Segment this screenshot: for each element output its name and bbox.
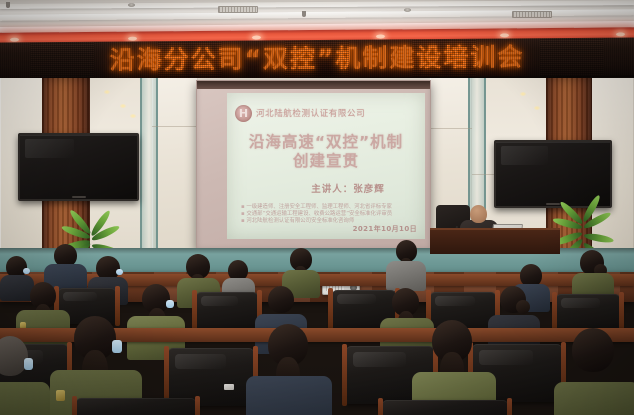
slide-title: 沿海高速“双控”机制 创建宣贯: [227, 133, 425, 171]
cove-lamp-icon: [128, 37, 137, 41]
screen-glare: [25, 139, 74, 158]
wall-display-left[interactable]: [18, 133, 139, 201]
person-torso: [554, 382, 634, 415]
sprinkler-icon: [6, 2, 10, 8]
slide-company-name: 河北陆航检测认证有限公司: [256, 107, 365, 119]
projection-screen: 河北陆航检测认证有限公司 沿海高速“双控”机制 创建宣贯 主讲人：张彦辉 一级建…: [196, 80, 431, 250]
led-banner-text: 沿海分公司“双控”机制建设培训会: [110, 44, 525, 74]
audience-area: [0, 240, 634, 415]
cove-lamp-icon: [376, 34, 385, 38]
seat[interactable]: [196, 292, 258, 330]
seat-sheen: [479, 350, 533, 365]
uniform-shoulder-patch: [56, 390, 65, 401]
face-mask: [112, 340, 122, 353]
company-logo-icon: [235, 105, 252, 122]
wall-seam: [430, 128, 472, 129]
person-head: [268, 286, 294, 313]
screen-glare: [501, 146, 549, 165]
seat[interactable]: [382, 400, 508, 415]
cove-lamp-icon: [252, 35, 261, 39]
slide-header: 河北陆航检测认证有限公司: [235, 102, 417, 124]
face-mask: [23, 268, 30, 274]
seat-sheen: [337, 294, 375, 304]
sprinkler-icon: [302, 11, 306, 17]
person-torso: [246, 376, 332, 415]
person-head: [572, 328, 614, 372]
cove-lamp-icon: [500, 33, 509, 37]
spotlight-icon: [104, 90, 110, 94]
slide-title-line2: 创建宣贯: [227, 152, 425, 171]
seat[interactable]: [556, 294, 620, 332]
cove-lamp-icon: [616, 32, 625, 36]
seat-sheen: [175, 354, 227, 369]
wall-seam: [152, 126, 198, 127]
seat-sheen: [561, 298, 599, 308]
presentation-slide: 河北陆航检测认证有限公司 沿海高速“双控”机制 创建宣贯 主讲人：张彦辉 一级建…: [227, 93, 425, 239]
tv-brand-mark: [72, 196, 86, 198]
person-torso: [0, 275, 34, 301]
conference-photo: 沿海分公司“双控”机制建设培训会 河北陆航检测认证有限公司: [0, 0, 634, 415]
cove-lamp-icon: [10, 38, 19, 42]
ceiling-dome-light-icon: [404, 8, 411, 12]
slide-presenter: 主讲人：张彦辉: [227, 181, 425, 195]
slide-title-line1: 沿海高速“双控”机制: [227, 133, 425, 152]
face-mask: [24, 358, 33, 370]
slide-date: 2021年10月10日: [353, 224, 417, 234]
spotlight-icon: [534, 106, 540, 110]
slide-bullet-list: 一级建造师、注册安全工程师、监理工程师、河北省评标专家 交通部“交通运输工程建设…: [241, 204, 417, 226]
seat-sheen: [435, 296, 475, 306]
speaker-head: [470, 205, 487, 223]
person-torso: [386, 261, 426, 291]
air-vent-icon: [218, 6, 258, 13]
seat-sheen: [353, 352, 406, 367]
face-mask: [166, 300, 174, 308]
spotlight-icon: [120, 104, 126, 108]
spotlight-icon: [520, 92, 526, 96]
ceiling-dome-light-icon: [128, 3, 135, 7]
led-banner: 沿海分公司“双控”机制建设培训会: [0, 38, 634, 83]
ceiling-beam: [0, 0, 634, 9]
air-vent-icon: [512, 11, 552, 18]
seat[interactable]: [76, 398, 196, 415]
person-torso: [0, 382, 50, 415]
face-mask: [116, 269, 123, 275]
seat-sheen: [63, 292, 98, 301]
spotlight-icon: [130, 114, 136, 118]
tv-brand-mark: [546, 203, 560, 205]
person-hair-bun: [516, 300, 530, 314]
seat-sheen: [201, 296, 238, 306]
smartphone[interactable]: [224, 384, 234, 390]
